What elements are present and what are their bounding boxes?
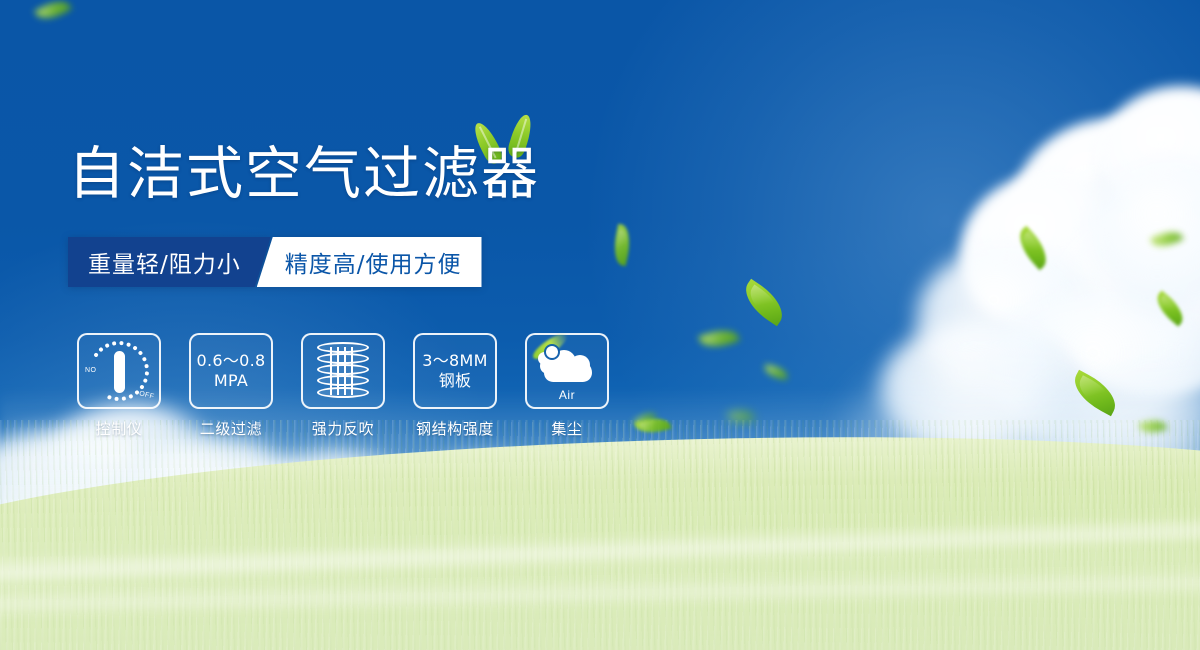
feature-item[interactable]: NO OFF 控制仪	[70, 333, 168, 439]
feature-list: NO OFF 控制仪 0.6～0.8 MPA 二级过滤	[70, 333, 616, 439]
feature-item[interactable]: 强力反吹	[294, 333, 392, 439]
grass-field	[0, 420, 1200, 650]
tagline-bar: 重量轻/阻力小 精度高/使用方便	[68, 237, 482, 287]
feature-icon-box	[301, 333, 385, 409]
page-title: 自洁式空气过滤器	[68, 143, 540, 205]
pressure-text-icon: 0.6～0.8 MPA	[197, 351, 266, 391]
feature-icon-box: 3～8MM 钢板	[413, 333, 497, 409]
steel-plate-text-icon: 3～8MM 钢板	[422, 351, 487, 391]
feature-icon-box: 0.6～0.8 MPA	[189, 333, 273, 409]
feature-label: 强力反吹	[312, 418, 374, 439]
feature-label: 二级过滤	[200, 418, 262, 439]
feature-item[interactable]: 0.6～0.8 MPA 二级过滤	[182, 333, 280, 439]
dial-on-label: NO	[85, 367, 96, 374]
feature-label: 控制仪	[96, 418, 143, 439]
dial-off-label: OFF	[138, 390, 154, 400]
feature-icon-box: NO OFF	[77, 333, 161, 409]
control-dial-icon: NO OFF	[86, 340, 152, 402]
feature-label: 钢结构强度	[416, 418, 494, 439]
product-hero-banner: 自洁式空气过滤器 重量轻/阻力小 精度高/使用方便	[0, 0, 1200, 650]
tagline-secondary: 精度高/使用方便	[257, 237, 482, 287]
feature-item[interactable]: Air 集尘	[518, 333, 616, 439]
tagline-primary: 重量轻/阻力小	[68, 237, 271, 287]
filter-cartridge-icon	[317, 342, 369, 400]
feature-label: 集尘	[551, 418, 582, 439]
air-caption: Air	[534, 388, 600, 402]
feature-icon-box: Air	[525, 333, 609, 409]
air-cloud-icon: Air	[534, 342, 600, 400]
feature-item[interactable]: 3～8MM 钢板 钢结构强度	[406, 333, 504, 439]
